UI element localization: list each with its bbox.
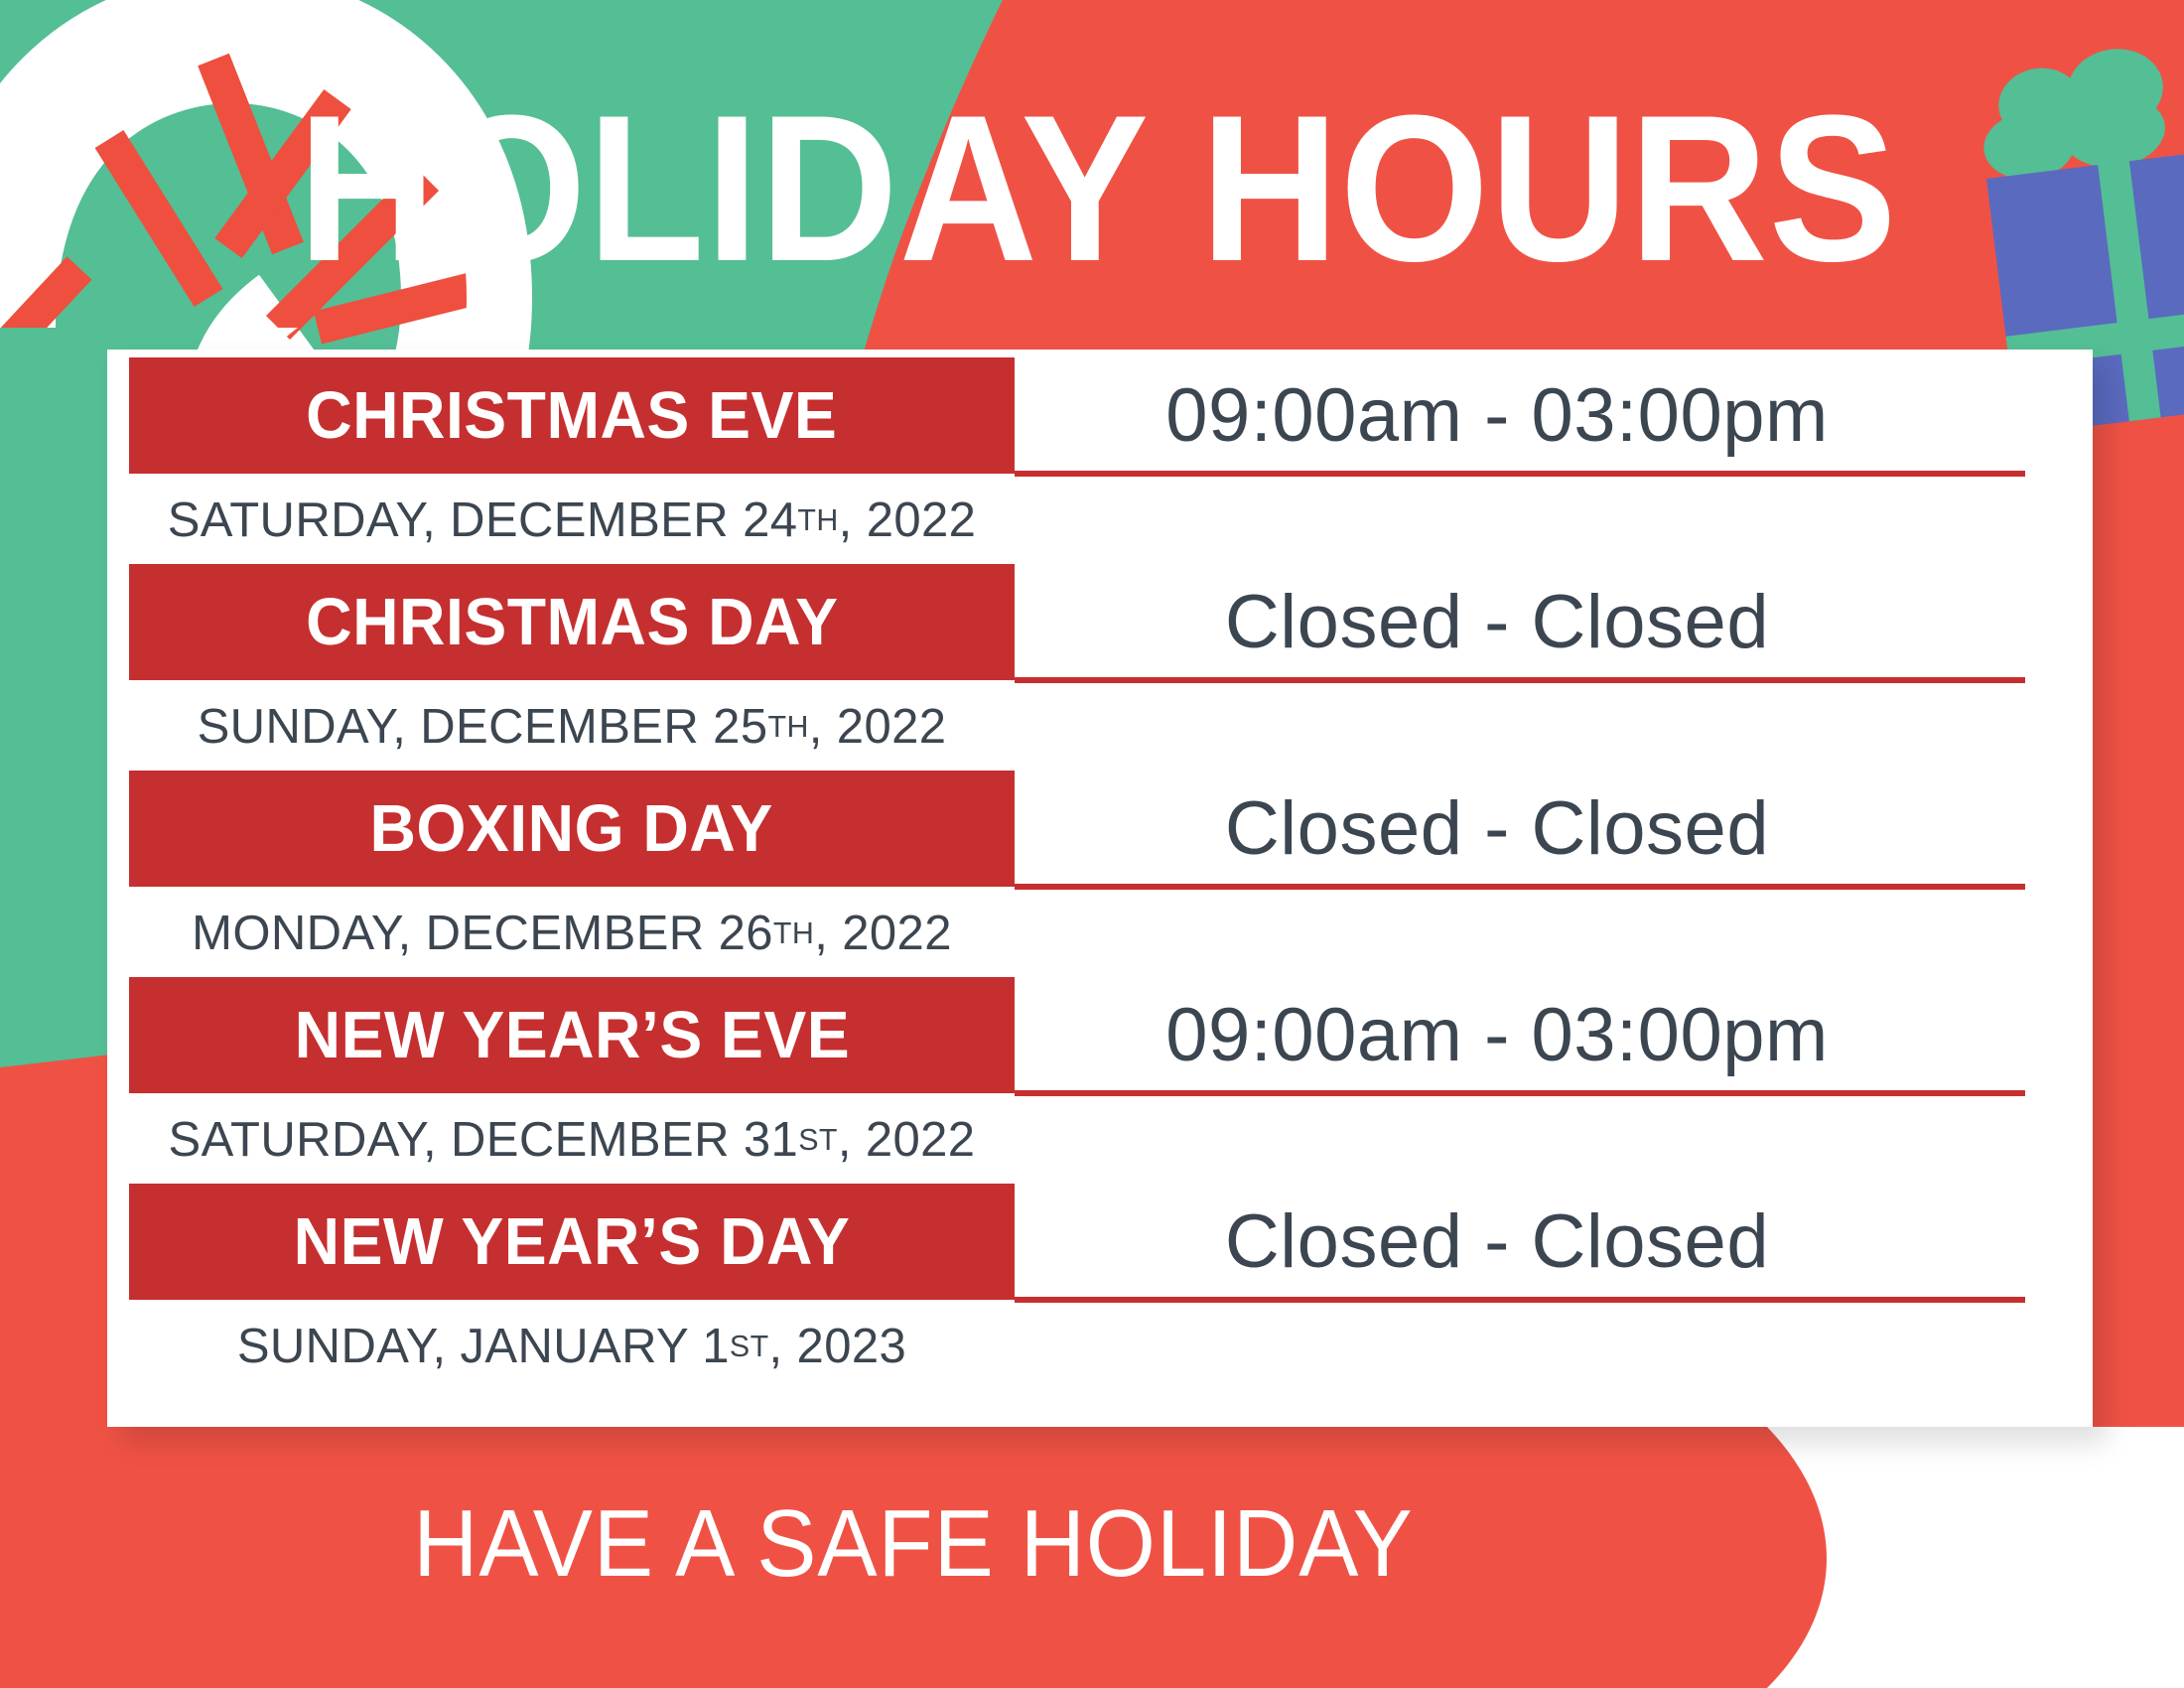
holiday-name-label: NEW YEAR’S DAY	[294, 1203, 851, 1280]
row-divider-rule	[1015, 677, 2025, 683]
schedule-row: NEW YEAR’S DAY Closed - Closed SUNDAY, J…	[107, 1184, 2093, 1390]
schedule-row: NEW YEAR’S EVE 09:00am - 03:00pm SATURDA…	[107, 977, 2093, 1184]
holiday-hours-value: Closed - Closed	[1060, 774, 1934, 882]
holiday-date-prefix: MONDAY, DECEMBER 26	[192, 906, 773, 961]
holiday-hours-value: 09:00am - 03:00pm	[1060, 981, 1934, 1088]
holiday-hours-value: Closed - Closed	[1060, 1188, 1934, 1295]
schedule-card: CHRISTMAS EVE 09:00am - 03:00pm SATURDAY…	[107, 350, 2093, 1427]
holiday-name-badge: BOXING DAY	[129, 771, 1015, 887]
holiday-hours-value: 09:00am - 03:00pm	[1060, 361, 1934, 469]
holiday-date-year: , 2022	[838, 1112, 976, 1168]
holiday-date-year: , 2023	[769, 1319, 907, 1374]
holiday-date-year: , 2022	[814, 906, 952, 961]
row-divider-rule	[1015, 471, 2025, 477]
holiday-name-badge: NEW YEAR’S DAY	[129, 1184, 1015, 1300]
holiday-date-label: SATURDAY, DECEMBER 24TH, 2022	[129, 485, 1015, 556]
holiday-name-label: CHRISTMAS EVE	[306, 377, 837, 454]
holiday-name-badge: NEW YEAR’S EVE	[129, 977, 1015, 1093]
holiday-date-prefix: SUNDAY, JANUARY 1	[237, 1319, 730, 1374]
holiday-hours-poster: HOLIDAY HOURS CHRISTMAS EVE 09:00am - 03…	[0, 0, 2184, 1688]
holiday-name-label: NEW YEAR’S EVE	[294, 997, 850, 1073]
schedule-rows: CHRISTMAS EVE 09:00am - 03:00pm SATURDAY…	[107, 350, 2093, 1427]
holiday-date-label: MONDAY, DECEMBER 26TH, 2022	[129, 898, 1015, 969]
holiday-date-label: SUNDAY, JANUARY 1ST, 2023	[129, 1311, 1015, 1382]
row-divider-rule	[1015, 884, 2025, 890]
schedule-row: CHRISTMAS DAY Closed - Closed SUNDAY, DE…	[107, 564, 2093, 771]
holiday-date-year: , 2022	[809, 699, 947, 755]
row-divider-rule	[1015, 1297, 2025, 1303]
row-divider-rule	[1015, 1090, 2025, 1096]
holiday-hours-value: Closed - Closed	[1060, 568, 1934, 675]
holiday-name-label: CHRISTMAS DAY	[306, 584, 838, 660]
holiday-name-badge: CHRISTMAS DAY	[129, 564, 1015, 680]
holiday-date-prefix: SATURDAY, DECEMBER 31	[169, 1112, 799, 1168]
schedule-row: BOXING DAY Closed - Closed MONDAY, DECEM…	[107, 771, 2093, 977]
schedule-row: CHRISTMAS EVE 09:00am - 03:00pm SATURDAY…	[107, 357, 2093, 564]
holiday-date-label: SUNDAY, DECEMBER 25TH, 2022	[129, 691, 1015, 763]
holiday-name-badge: CHRISTMAS EVE	[129, 357, 1015, 474]
holiday-date-year: , 2022	[839, 492, 977, 548]
holiday-date-prefix: SATURDAY, DECEMBER 24	[168, 492, 798, 548]
holiday-date-label: SATURDAY, DECEMBER 31ST, 2022	[129, 1104, 1015, 1176]
footer-message: HAVE A SAFE HOLIDAY	[55, 1489, 1772, 1599]
holiday-name-label: BOXING DAY	[370, 790, 773, 867]
holiday-date-prefix: SUNDAY, DECEMBER 25	[198, 699, 768, 755]
page-title: HOLIDAY HOURS	[298, 79, 1796, 298]
